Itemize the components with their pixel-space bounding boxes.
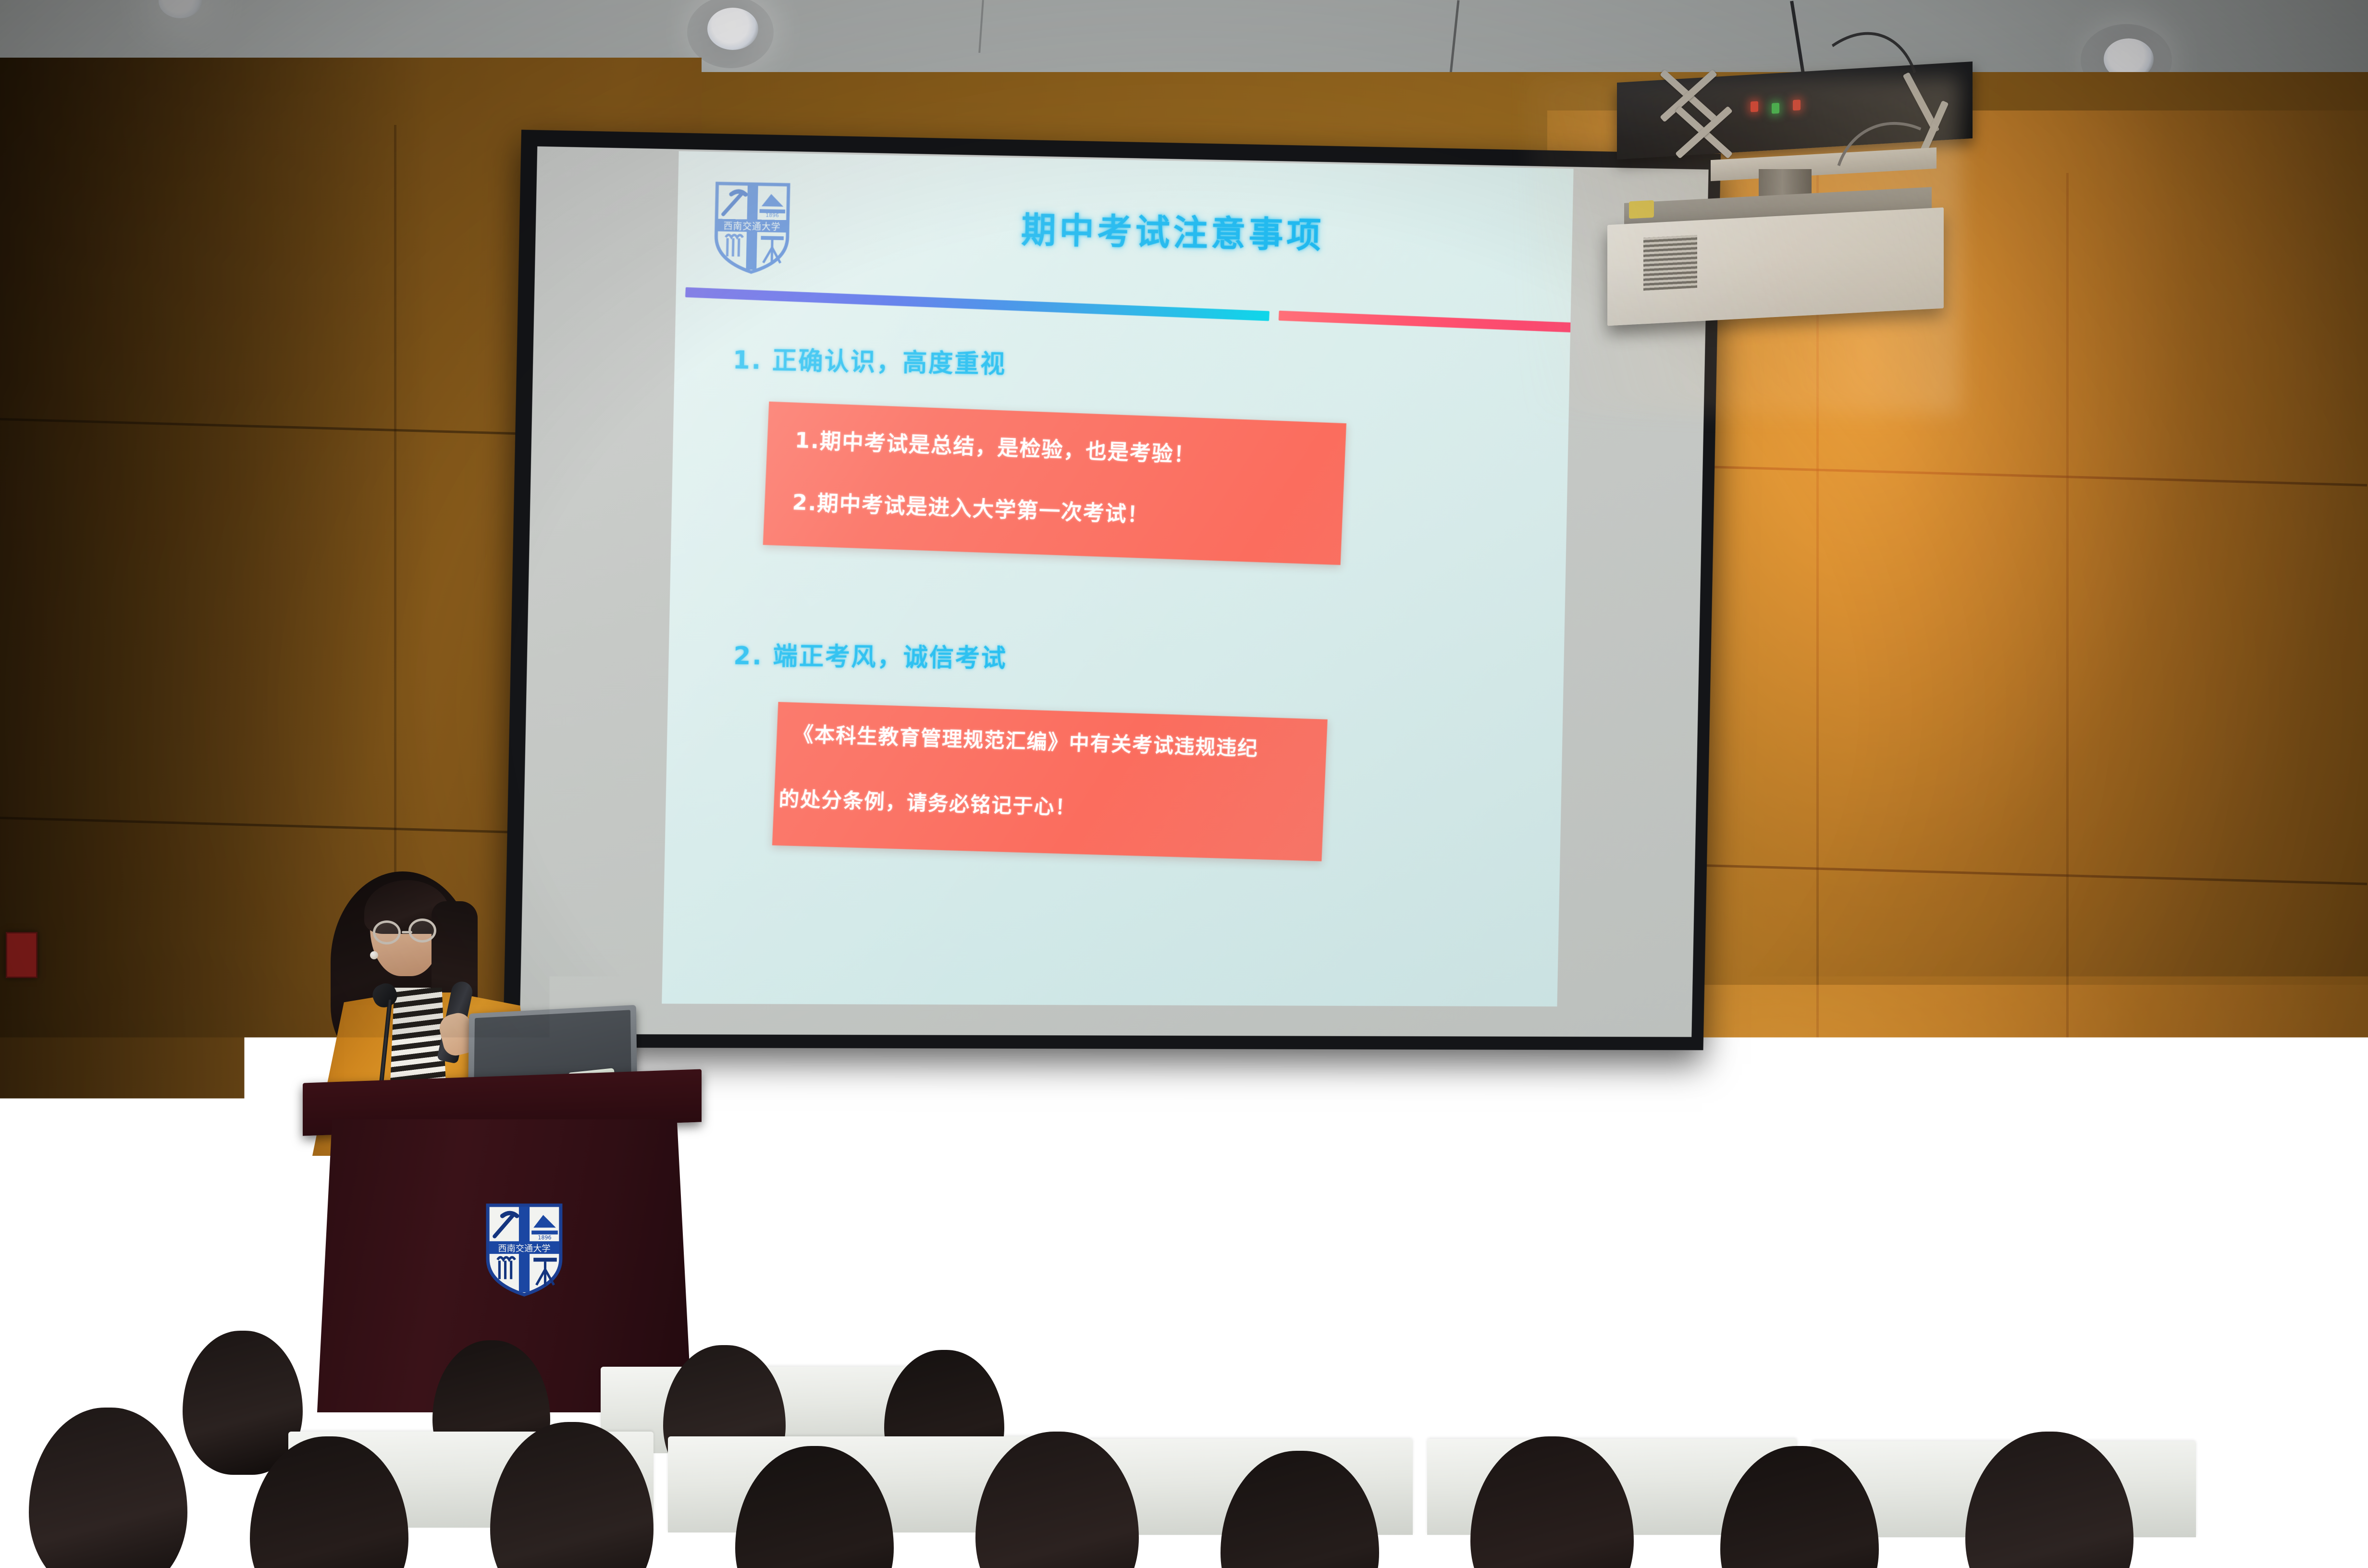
divider-bar-blue — [685, 287, 1270, 321]
slide-title: 期中考试注意事项 — [881, 199, 1462, 260]
wall-seam-vertical — [1816, 159, 1819, 1311]
box1-line-1: 1.期中考试是总结，是检验，也是考验！ — [794, 429, 1196, 465]
presenter-glasses-bridge — [402, 931, 412, 933]
highlight-box-2: 《本科生教育管理规范汇编》中有关考试违规违纪 的处分条例，请务必铭记于心！ — [772, 702, 1328, 861]
presenter-earring — [370, 951, 378, 959]
box2-line-1: 《本科生教育管理规范汇编》中有关考试违规违纪 — [792, 724, 1258, 759]
box2-line-2: 的处分条例，请务必铭记于心！ — [778, 789, 1076, 818]
svg-text:西南交通大学: 西南交通大学 — [724, 221, 781, 233]
presenter-glasses-right-lens — [408, 919, 436, 943]
lecture-hall-photo: 1896 西南交通大学 — [0, 0, 2368, 1568]
foreground-shadow — [0, 1232, 2368, 1568]
presenter-glasses-left-lens — [373, 920, 401, 944]
wall-seam-vertical — [2066, 173, 2069, 1326]
highlight-box-1: 1.期中考试是总结，是检验，也是考验！ 2.期中考试是进入大学第一次考试！ — [763, 402, 1346, 565]
projection-screen: 1896 西南交通大学 — [503, 130, 1721, 1050]
section-heading-1: 1. 正确认识，高度重视 — [732, 340, 1007, 380]
slide-sheen — [662, 151, 1573, 1006]
emc-cube-logo — [2089, 1311, 2296, 1518]
section-heading-2: 2. 端正考风，诚信考试 — [733, 636, 1008, 674]
ceiling-downlight — [707, 8, 758, 50]
projected-slide: 1896 西南交通大学 — [662, 151, 1573, 1006]
svg-text:1896: 1896 — [765, 212, 779, 218]
projector-status-led-green — [1772, 103, 1779, 114]
box1-line-2: 2.期中考试是进入大学第一次考试！ — [792, 491, 1149, 526]
divider-bar-red — [1279, 311, 1574, 333]
university-shield-logo: 1896 西南交通大学 — [711, 180, 793, 275]
slide-divider — [676, 284, 1571, 328]
projector-status-led-red — [1751, 101, 1758, 112]
projector-vent-grille — [1643, 235, 1697, 291]
fire-alarm-panel — [6, 932, 37, 978]
projector-lens — [1629, 200, 1654, 219]
